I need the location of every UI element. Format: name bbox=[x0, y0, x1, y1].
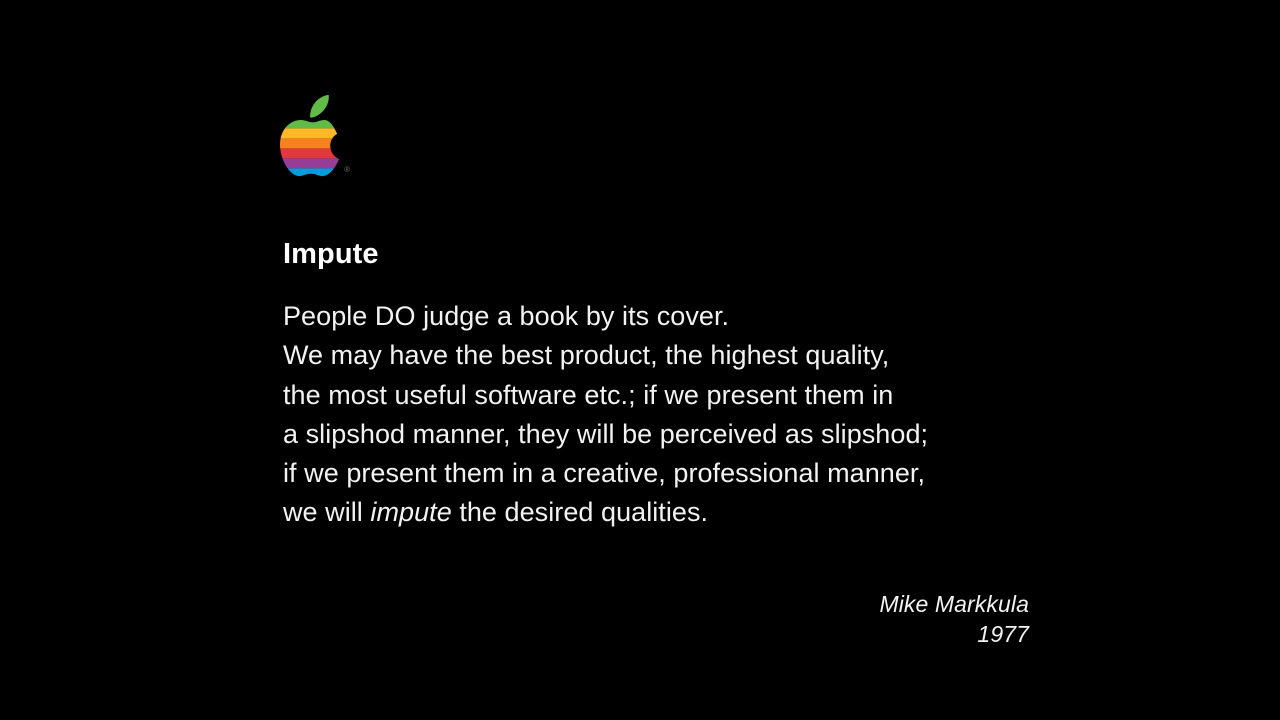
apple-logo: ® bbox=[272, 94, 352, 186]
apple-rainbow-logo-icon bbox=[272, 94, 352, 186]
emphasized-word: impute bbox=[370, 497, 451, 527]
body-line: the most useful software etc.; if we pre… bbox=[283, 376, 928, 415]
body-line: We may have the best product, the highes… bbox=[283, 336, 928, 375]
body-line: a slipshod manner, they will be perceive… bbox=[283, 415, 928, 454]
body-line: People DO judge a book by its cover. bbox=[283, 297, 928, 336]
body-line: if we present them in a creative, profes… bbox=[283, 454, 928, 493]
final-line-after: the desired qualities. bbox=[452, 497, 708, 527]
presentation-slide: ® Impute People DO judge a book by its c… bbox=[0, 0, 1280, 720]
attribution-author: Mike Markkula bbox=[879, 589, 1029, 619]
quote-attribution: Mike Markkula 1977 bbox=[879, 589, 1029, 649]
attribution-year: 1977 bbox=[879, 619, 1029, 649]
registered-trademark-mark: ® bbox=[344, 166, 350, 174]
final-line-before: we will bbox=[283, 497, 370, 527]
apple-leaf bbox=[272, 94, 352, 124]
slide-body-text: People DO judge a book by its cover. We … bbox=[283, 297, 928, 533]
slide-title: Impute bbox=[283, 237, 379, 272]
body-line-final: we will impute the desired qualities. bbox=[283, 493, 928, 532]
apple-body-stripes bbox=[272, 118, 352, 180]
